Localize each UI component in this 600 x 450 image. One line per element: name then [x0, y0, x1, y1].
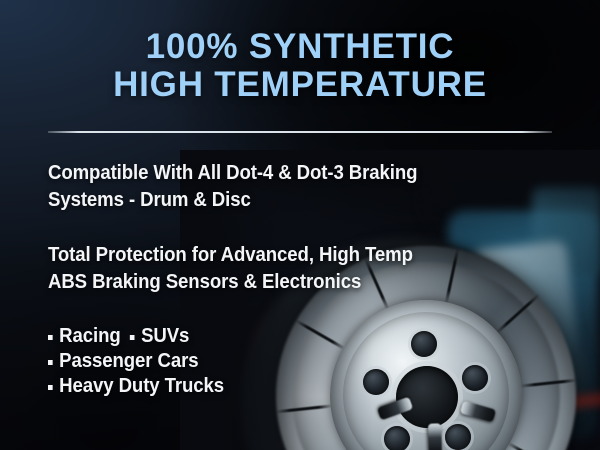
list-item: Heavy Duty Trucks	[48, 374, 224, 399]
headline-divider	[48, 131, 552, 133]
headline-line-2: High Temperature	[0, 66, 600, 104]
bullet-square-icon	[48, 335, 53, 340]
list-item-label: Passenger Cars	[59, 349, 198, 374]
headline: 100% Synthetic High Temperature	[0, 28, 600, 104]
headline-line-1: 100% Synthetic	[0, 28, 600, 66]
bullet-square-icon	[48, 385, 53, 390]
bullet-square-icon	[48, 360, 53, 365]
feature-paragraph-protection: Total Protection for Advanced, High Temp…	[48, 242, 413, 296]
application-list: Racing SUVs Passenger Cars Heavy Duty Tr…	[48, 324, 237, 399]
product-feature-banner: 100% Synthetic High Temperature Compatib…	[0, 0, 600, 450]
list-item-label: Racing	[59, 324, 120, 349]
feature-paragraph-compatibility: Compatible With All Dot-4 & Dot-3 Brakin…	[48, 160, 417, 214]
list-item-label: Heavy Duty Trucks	[59, 374, 224, 399]
list-item: Passenger Cars	[48, 349, 224, 374]
list-item-label-secondary: SUVs	[141, 324, 189, 349]
bullet-square-icon	[130, 335, 135, 340]
list-item: Racing SUVs	[48, 324, 224, 349]
banner-content: 100% Synthetic High Temperature Compatib…	[0, 0, 600, 450]
